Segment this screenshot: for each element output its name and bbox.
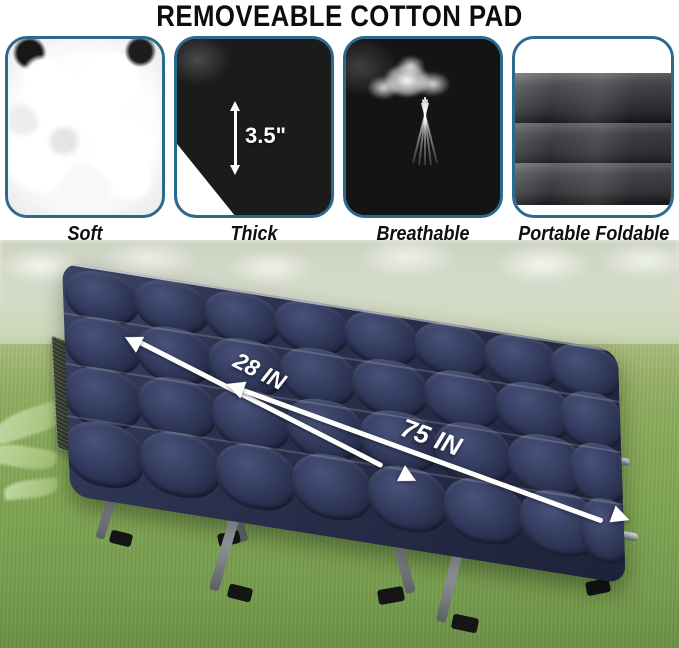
folded-mattress-image bbox=[515, 39, 671, 215]
dimension-arrowhead-28in bbox=[397, 465, 420, 489]
feature-panel-soft bbox=[5, 36, 165, 218]
thickness-measurement-label: 3.5" bbox=[245, 123, 286, 149]
smoke-plume bbox=[362, 53, 460, 115]
dimension-arrowhead-28in bbox=[121, 329, 144, 353]
product-photo: 28 IN 75 IN bbox=[0, 240, 679, 648]
dimension-annotations: 28 IN 75 IN bbox=[0, 240, 679, 648]
feature-panel-breathable bbox=[343, 36, 503, 218]
caption-portable-foldable: Portable Foldable bbox=[518, 222, 667, 246]
airflow-smoke-icon bbox=[346, 39, 500, 215]
thickness-arrow-icon: 3.5" bbox=[177, 39, 331, 215]
thickness-double-arrow-icon bbox=[229, 101, 241, 175]
dimension-line-75in bbox=[237, 386, 603, 523]
feature-caption-row: Soft Thick Breathable Portable Foldable bbox=[0, 222, 679, 250]
feature-panel-thick: 3.5" bbox=[174, 36, 334, 218]
cotton-fiberfill-image bbox=[8, 39, 162, 215]
caption-soft: Soft bbox=[13, 222, 157, 246]
dimension-arrowhead-75in bbox=[609, 505, 632, 528]
product-infographic: REMOVEABLE COTTON PAD 3.5" bbox=[0, 0, 679, 648]
feature-panel-portable-foldable bbox=[512, 36, 674, 218]
title-bar: REMOVEABLE COTTON PAD bbox=[0, 0, 679, 34]
caption-thick: Thick bbox=[182, 222, 326, 246]
folded-pad-icon bbox=[515, 39, 671, 215]
feature-panel-strip: 3.5" bbox=[0, 36, 679, 220]
cotton-fill-icon bbox=[8, 39, 162, 215]
page-title: REMOVEABLE COTTON PAD bbox=[48, 1, 632, 33]
caption-breathable: Breathable bbox=[351, 222, 495, 246]
